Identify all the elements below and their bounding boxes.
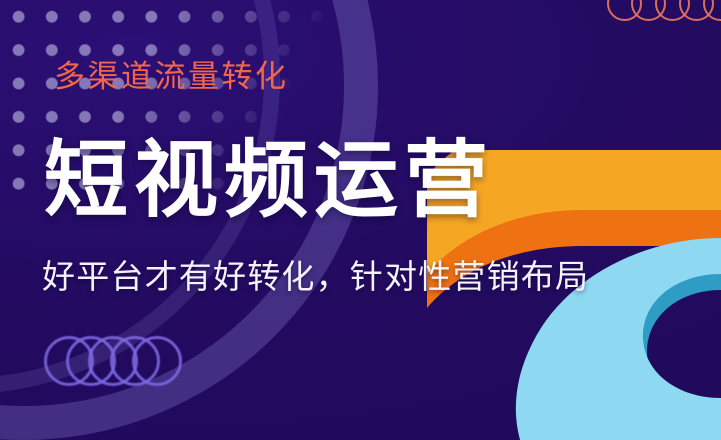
poster-subheadline: 好平台才有好转化，针对性营销布局 — [42, 260, 589, 293]
poster-canvas: 多渠道流量转化 短视频运营 好平台才有好转化，针对性营销布局 — [0, 0, 721, 440]
poster-kicker: 多渠道流量转化 — [54, 62, 289, 93]
poster-headline: 短视频运营 — [44, 138, 494, 222]
